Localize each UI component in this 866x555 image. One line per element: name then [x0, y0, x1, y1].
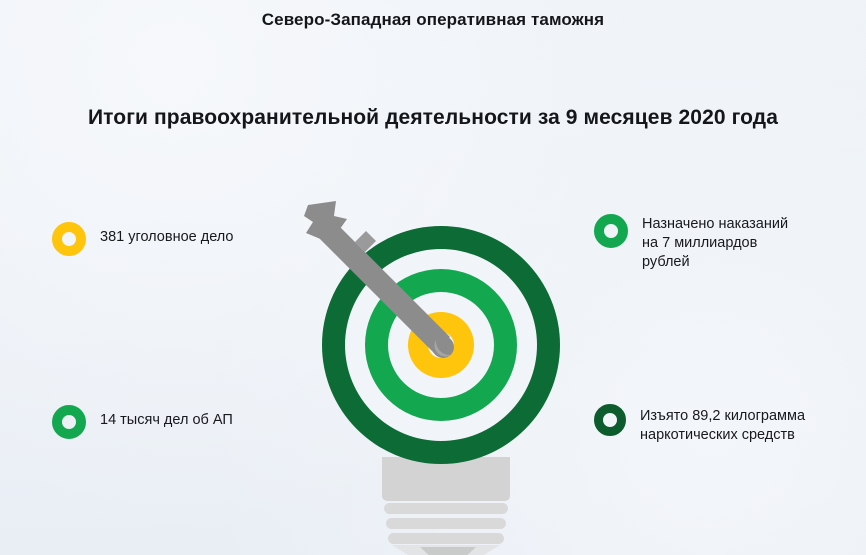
stat-item-drugs-seized[interactable]: Изъято 89,2 килограмма наркотических сре… [594, 404, 805, 445]
dark-green-ring-marker-icon [594, 404, 626, 436]
lightbulb-base-icon [382, 457, 510, 555]
green-ring-marker-icon [594, 214, 628, 248]
green-ring-marker-icon [52, 405, 86, 439]
stat-item-administrative-cases[interactable]: 14 тысяч дел об АП [52, 405, 233, 439]
organization-title: Северо-Западная оперативная таможня [0, 10, 866, 30]
target-with-arrow-and-lightbulb-illustration [300, 195, 590, 555]
stat-item-penalties-assigned[interactable]: Назначено наказаний на 7 миллиардов рубл… [594, 214, 788, 272]
stat-item-criminal-cases[interactable]: 381 уголовное дело [52, 222, 233, 256]
page-title: Итоги правоохранительной деятельности за… [0, 106, 866, 130]
stat-label: Назначено наказаний на 7 миллиардов рубл… [642, 214, 788, 272]
stat-label: 14 тысяч дел об АП [100, 405, 233, 430]
yellow-ring-marker-icon [52, 222, 86, 256]
stat-label: Изъято 89,2 килограмма наркотических сре… [640, 404, 805, 445]
stat-label: 381 уголовное дело [100, 222, 233, 247]
